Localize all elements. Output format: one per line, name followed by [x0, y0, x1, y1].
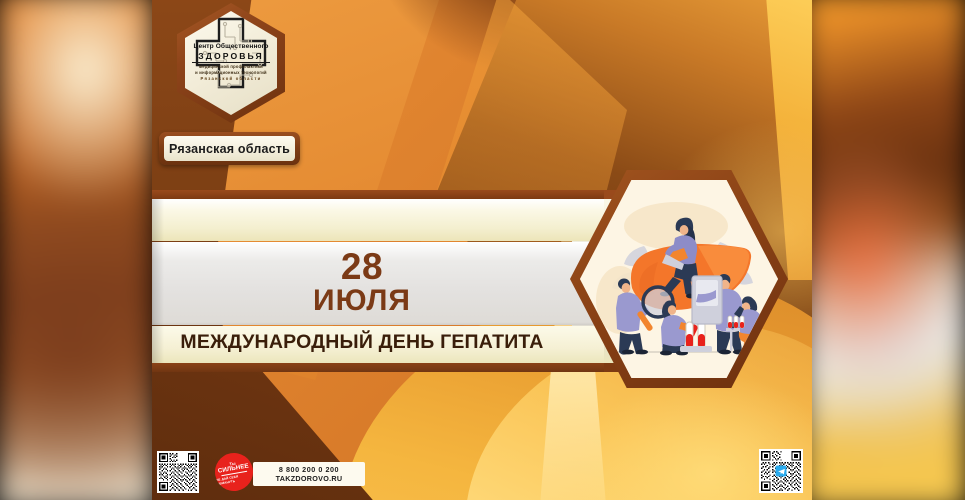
logo-line-4: и информационных технологий	[190, 70, 272, 76]
logo-inner-hexagon: Центр Общественного ЗДОРОВЬЯ медицинской…	[185, 11, 277, 115]
logo-line-5: Рязанской области	[190, 76, 272, 82]
telegram-icon	[776, 466, 787, 477]
left-blur-fill	[0, 0, 155, 500]
telegram-glyph	[777, 467, 785, 475]
contact-plate: 8 800 200 0 200 TAKZDOROVO.RU	[253, 462, 365, 486]
main-banner: 28 ИЮЛЯ МЕЖДУНАРОДНЫЙ ДЕНЬ ГЕПАТИТА	[152, 190, 604, 372]
banner-band-top-border	[152, 190, 604, 199]
logo-text-block: Центр Общественного ЗДОРОВЬЯ медицинской…	[190, 44, 272, 82]
region-plate: Рязанская область	[159, 132, 300, 165]
poster-stage: Центр Общественного ЗДОРОВЬЯ медицинской…	[0, 0, 965, 500]
qr-code-right[interactable]	[759, 449, 803, 493]
banner-band-bottom-border	[152, 363, 604, 372]
event-day: 28	[152, 248, 572, 285]
event-month: ИЮЛЯ	[152, 286, 572, 316]
illustration-inner	[580, 180, 778, 378]
qr-code-left[interactable]	[157, 451, 199, 493]
qr-left-svg	[159, 453, 197, 491]
banner-band-cream-upper	[152, 199, 604, 241]
left-blur-panel	[0, 0, 155, 500]
logo-line-2: ЗДОРОВЬЯ	[190, 51, 272, 62]
right-blur-fill	[802, 0, 965, 500]
hotline-phone: 8 800 200 0 200	[279, 465, 339, 474]
logo-line-1: Центр Общественного	[190, 44, 272, 51]
website-url: TAKZDOROVO.RU	[276, 474, 343, 483]
logo-divider	[192, 62, 270, 63]
right-blur-panel	[802, 0, 965, 500]
poster-content: Центр Общественного ЗДОРОВЬЯ медицинской…	[152, 0, 812, 500]
liver-research-illustration	[580, 180, 778, 378]
region-label: Рязанская область	[164, 136, 295, 161]
event-subtitle: МЕЖДУНАРОДНЫЙ ДЕНЬ ГЕПАТИТА	[152, 333, 572, 353]
